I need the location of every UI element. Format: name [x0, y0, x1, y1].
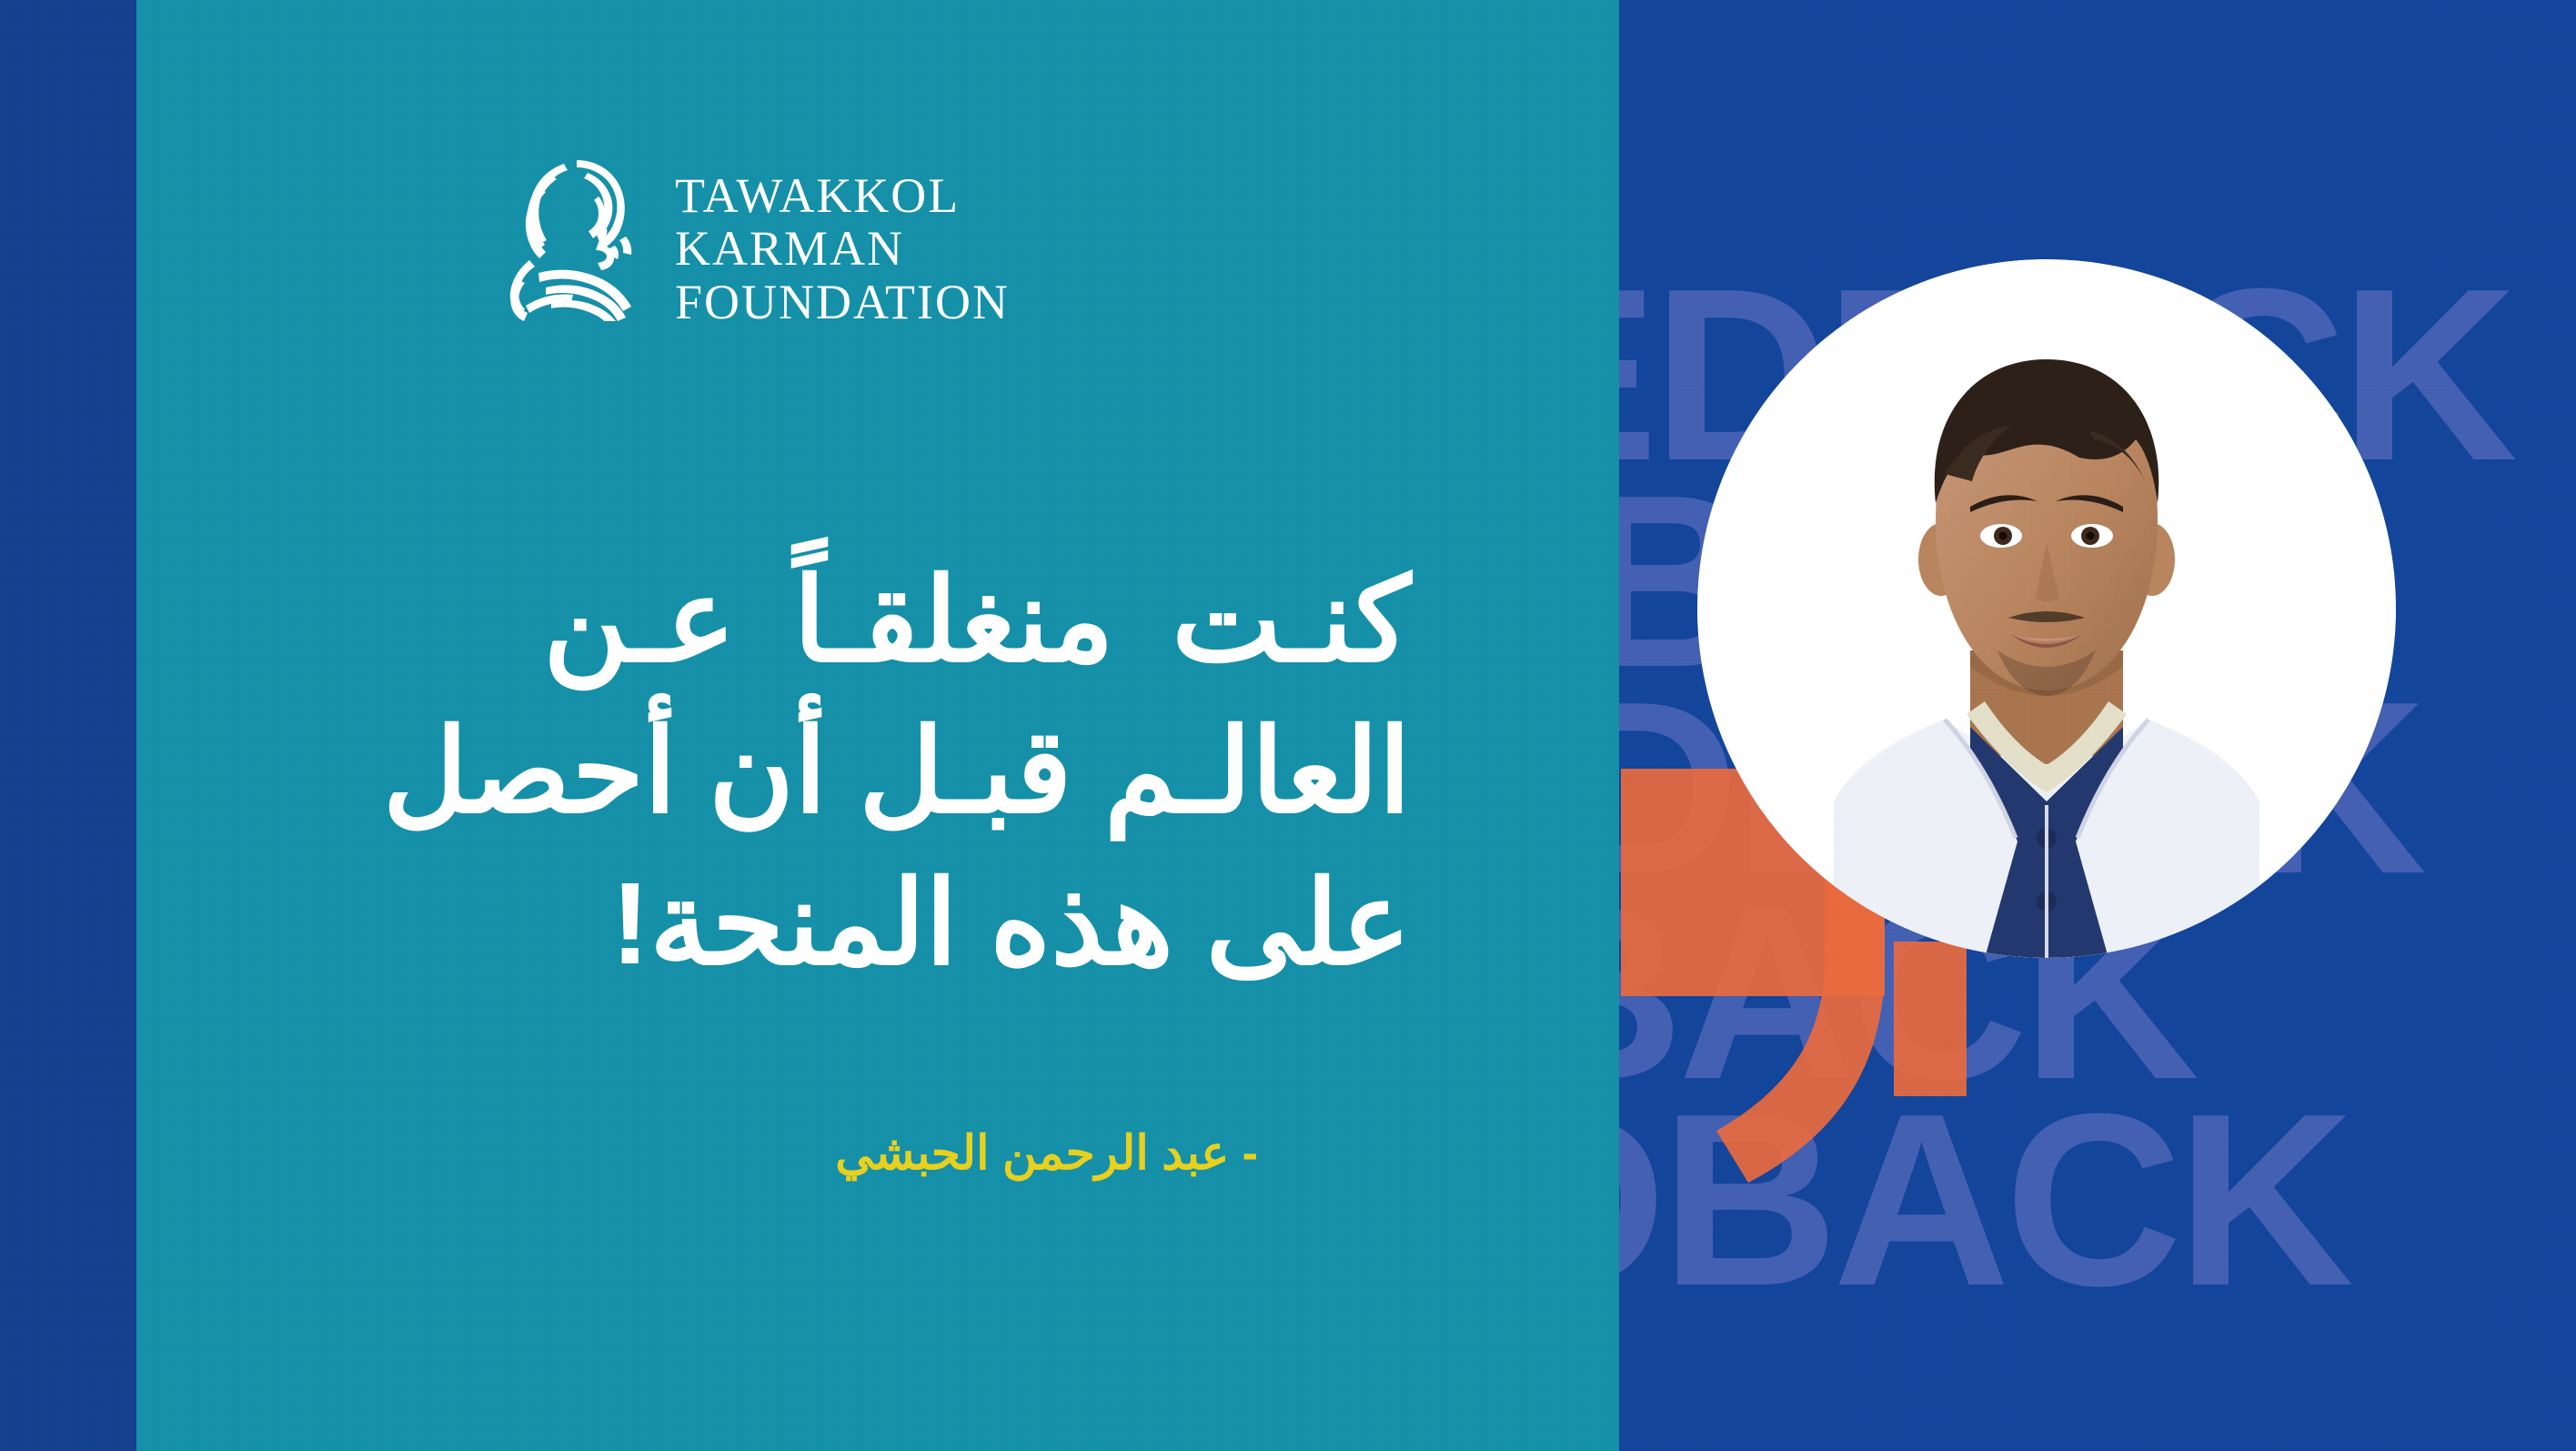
- quote-line-3: على هذه المنحة!: [110, 849, 1411, 1000]
- quote-line-1: كنـت منغلقـاً عـن: [110, 546, 1411, 697]
- logo-line-3: FOUNDATION: [675, 276, 1010, 328]
- logo-line-1: TAWAKKOL: [675, 169, 1010, 222]
- foundation-logo-wordmark: TAWAKKOL KARMAN FOUNDATION: [675, 153, 1010, 328]
- quote-attribution: - عبد الرحمن الحبشي: [835, 1126, 1258, 1181]
- testimonial-poster: FEEDBACK FEEDBACK FEEDBACK FEEDBACK FEED…: [0, 0, 2576, 1451]
- tawakkol-karman-lion-mark-icon: [498, 153, 655, 321]
- portrait-avatar: [1697, 259, 2396, 958]
- logo-line-2: KARMAN: [675, 222, 1010, 275]
- testimonial-quote: كنـت منغلقـاً عـن العالـم قبـل أن أحصل ع…: [110, 546, 1411, 1000]
- quote-line-2: العالـم قبـل أن أحصل: [110, 697, 1411, 848]
- foundation-logo: TAWAKKOL KARMAN FOUNDATION: [498, 153, 1010, 328]
